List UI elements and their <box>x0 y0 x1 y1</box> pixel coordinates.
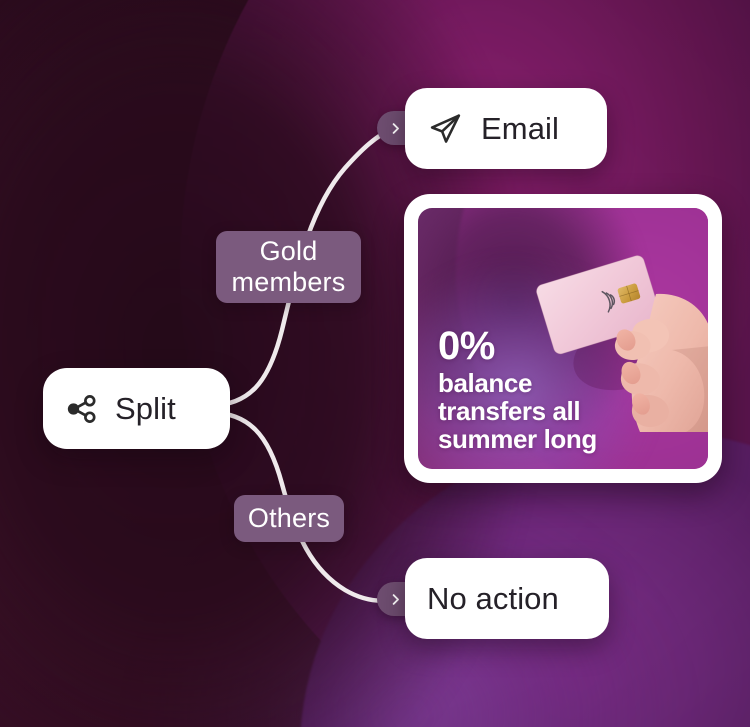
node-email-label: Email <box>481 111 559 147</box>
node-no-action-label: No action <box>427 581 559 617</box>
node-email-action[interactable]: Email <box>405 88 607 169</box>
promo-text-block: 0% balance transfers all summer long <box>438 326 597 453</box>
flow-canvas: Split Gold members Others Email <box>0 0 750 727</box>
branch-chip-gold-members[interactable]: Gold members <box>216 231 361 303</box>
branch-chip-others-label: Others <box>248 503 330 534</box>
paper-plane-send-icon <box>427 111 463 147</box>
promo-headline: 0% <box>438 326 597 366</box>
promo-content-card[interactable]: 0% balance transfers all summer long <box>404 194 722 483</box>
node-no-action[interactable]: No action <box>405 558 609 639</box>
branch-chip-gold-members-label: Gold members <box>232 236 346 299</box>
promo-line-3: summer long <box>438 425 597 453</box>
promo-line-2: transfers all <box>438 397 597 425</box>
node-split[interactable]: Split <box>43 368 230 449</box>
promo-image: 0% balance transfers all summer long <box>418 208 708 469</box>
branch-chip-others[interactable]: Others <box>234 495 344 542</box>
share-split-icon <box>65 392 99 426</box>
promo-line-1: balance <box>438 369 597 397</box>
gold-chip-line1: Gold <box>260 236 318 266</box>
gold-chip-line2: members <box>232 267 346 297</box>
node-split-label: Split <box>115 391 176 427</box>
